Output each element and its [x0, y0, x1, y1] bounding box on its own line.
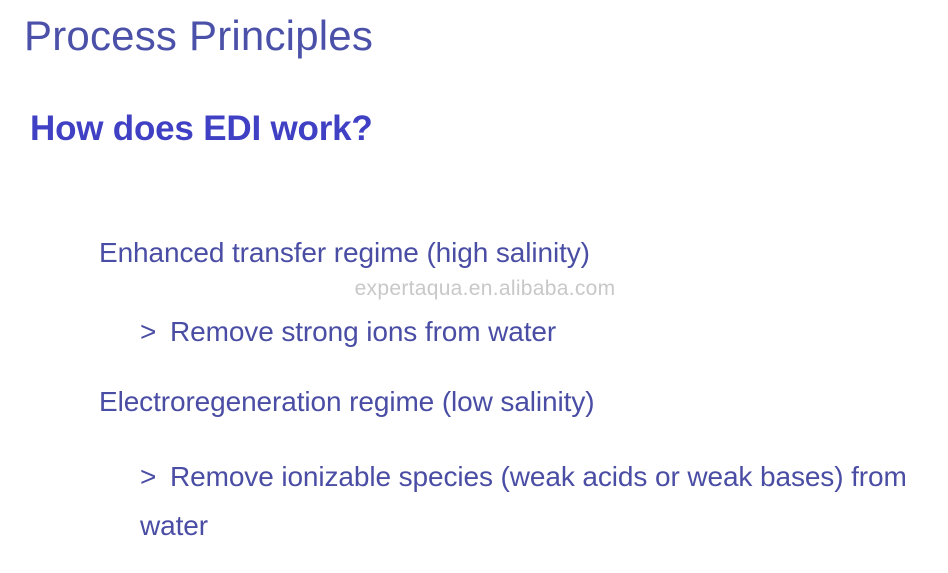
watermark-text: expertaqua.en.alibaba.com	[355, 276, 616, 302]
bullet-main-label: Electroregeneration regime (low salinity…	[99, 384, 594, 420]
chevron-right-marker-icon: >	[140, 452, 170, 501]
bullet-sub-item: >Remove ionizable species (weak acids or…	[140, 452, 940, 550]
slide-canvas: Process Principles How does EDI work? En…	[0, 0, 948, 573]
bullet-sub-label: Remove ionizable species (weak acids or …	[140, 461, 907, 541]
watermark: expertaqua.en.alibaba.com	[0, 276, 948, 302]
slide-heading: How does EDI work?	[30, 106, 373, 152]
page-title: Process Principles	[24, 10, 373, 62]
bullet-sub-item: >Remove strong ions from water	[140, 307, 920, 356]
bullet-sub-label: Remove strong ions from water	[170, 316, 556, 347]
bullet-main-label: Enhanced transfer regime (high salinity)	[99, 235, 590, 271]
chevron-right-marker-icon: >	[140, 307, 170, 356]
